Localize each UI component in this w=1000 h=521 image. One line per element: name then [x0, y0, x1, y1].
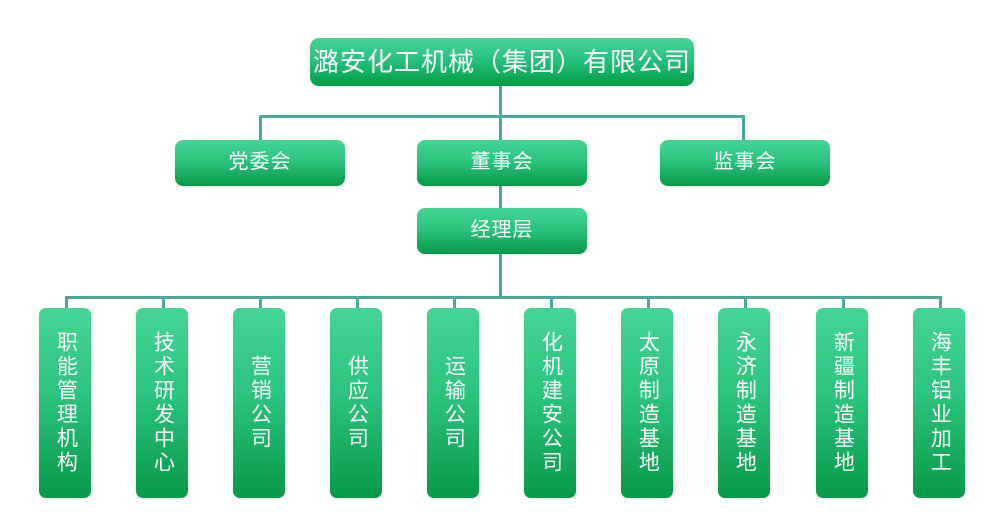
node-supervisory-board-label: 监事会	[714, 151, 777, 175]
node-leaf-chemical-construction[interactable]: 化机建安公司	[524, 308, 576, 498]
node-leaf-taiyuan-base[interactable]: 太原制造基地	[621, 308, 673, 498]
node-leaf-haifeng-aluminum-label: 海丰铝业加工	[927, 331, 952, 475]
node-leaf-yongji-base-label: 永济制造基地	[732, 331, 757, 475]
connector-to-board	[499, 115, 502, 142]
node-leaf-taiyuan-base-label: 太原制造基地	[635, 331, 660, 475]
node-board-of-directors-label: 董事会	[471, 151, 534, 175]
node-leaf-transport-company[interactable]: 运输公司	[427, 308, 479, 498]
node-leaf-rnd-center[interactable]: 技术研发中心	[136, 308, 188, 498]
node-leaf-functional-management[interactable]: 职能管理机构	[39, 308, 91, 498]
connector-board-to-management	[499, 186, 502, 210]
node-leaf-transport-company-label: 运输公司	[441, 355, 466, 451]
node-leaf-xinjiang-base[interactable]: 新疆制造基地	[816, 308, 868, 498]
node-management-layer-label: 经理层	[471, 219, 534, 243]
node-management-layer[interactable]: 经理层	[417, 208, 587, 254]
node-root-company-label: 潞安化工机械（集团）有限公司	[313, 47, 691, 78]
node-party-committee-label: 党委会	[229, 151, 292, 175]
connector-to-supervisory-board	[742, 115, 745, 142]
node-supervisory-board[interactable]: 监事会	[660, 140, 830, 186]
org-chart: 潞安化工机械（集团）有限公司 党委会 董事会 监事会 经理层 职能管理机构 技术…	[0, 0, 1000, 521]
connector-management-down	[499, 254, 502, 298]
node-board-of-directors[interactable]: 董事会	[417, 140, 587, 186]
node-leaf-supply-company[interactable]: 供应公司	[330, 308, 382, 498]
connector-level4-bus	[65, 296, 942, 299]
node-leaf-marketing-company-label: 营销公司	[247, 355, 272, 451]
node-leaf-chemical-construction-label: 化机建安公司	[538, 331, 563, 475]
node-leaf-haifeng-aluminum[interactable]: 海丰铝业加工	[913, 308, 965, 498]
node-party-committee[interactable]: 党委会	[175, 140, 345, 186]
node-leaf-supply-company-label: 供应公司	[344, 355, 369, 451]
node-root-company[interactable]: 潞安化工机械（集团）有限公司	[310, 38, 694, 86]
node-leaf-rnd-center-label: 技术研发中心	[150, 331, 175, 475]
node-leaf-marketing-company[interactable]: 营销公司	[233, 308, 285, 498]
connector-root-down	[499, 86, 502, 117]
node-leaf-yongji-base[interactable]: 永济制造基地	[718, 308, 770, 498]
node-leaf-xinjiang-base-label: 新疆制造基地	[830, 331, 855, 475]
connector-to-party-committee	[259, 115, 262, 142]
node-leaf-functional-management-label: 职能管理机构	[53, 331, 78, 475]
